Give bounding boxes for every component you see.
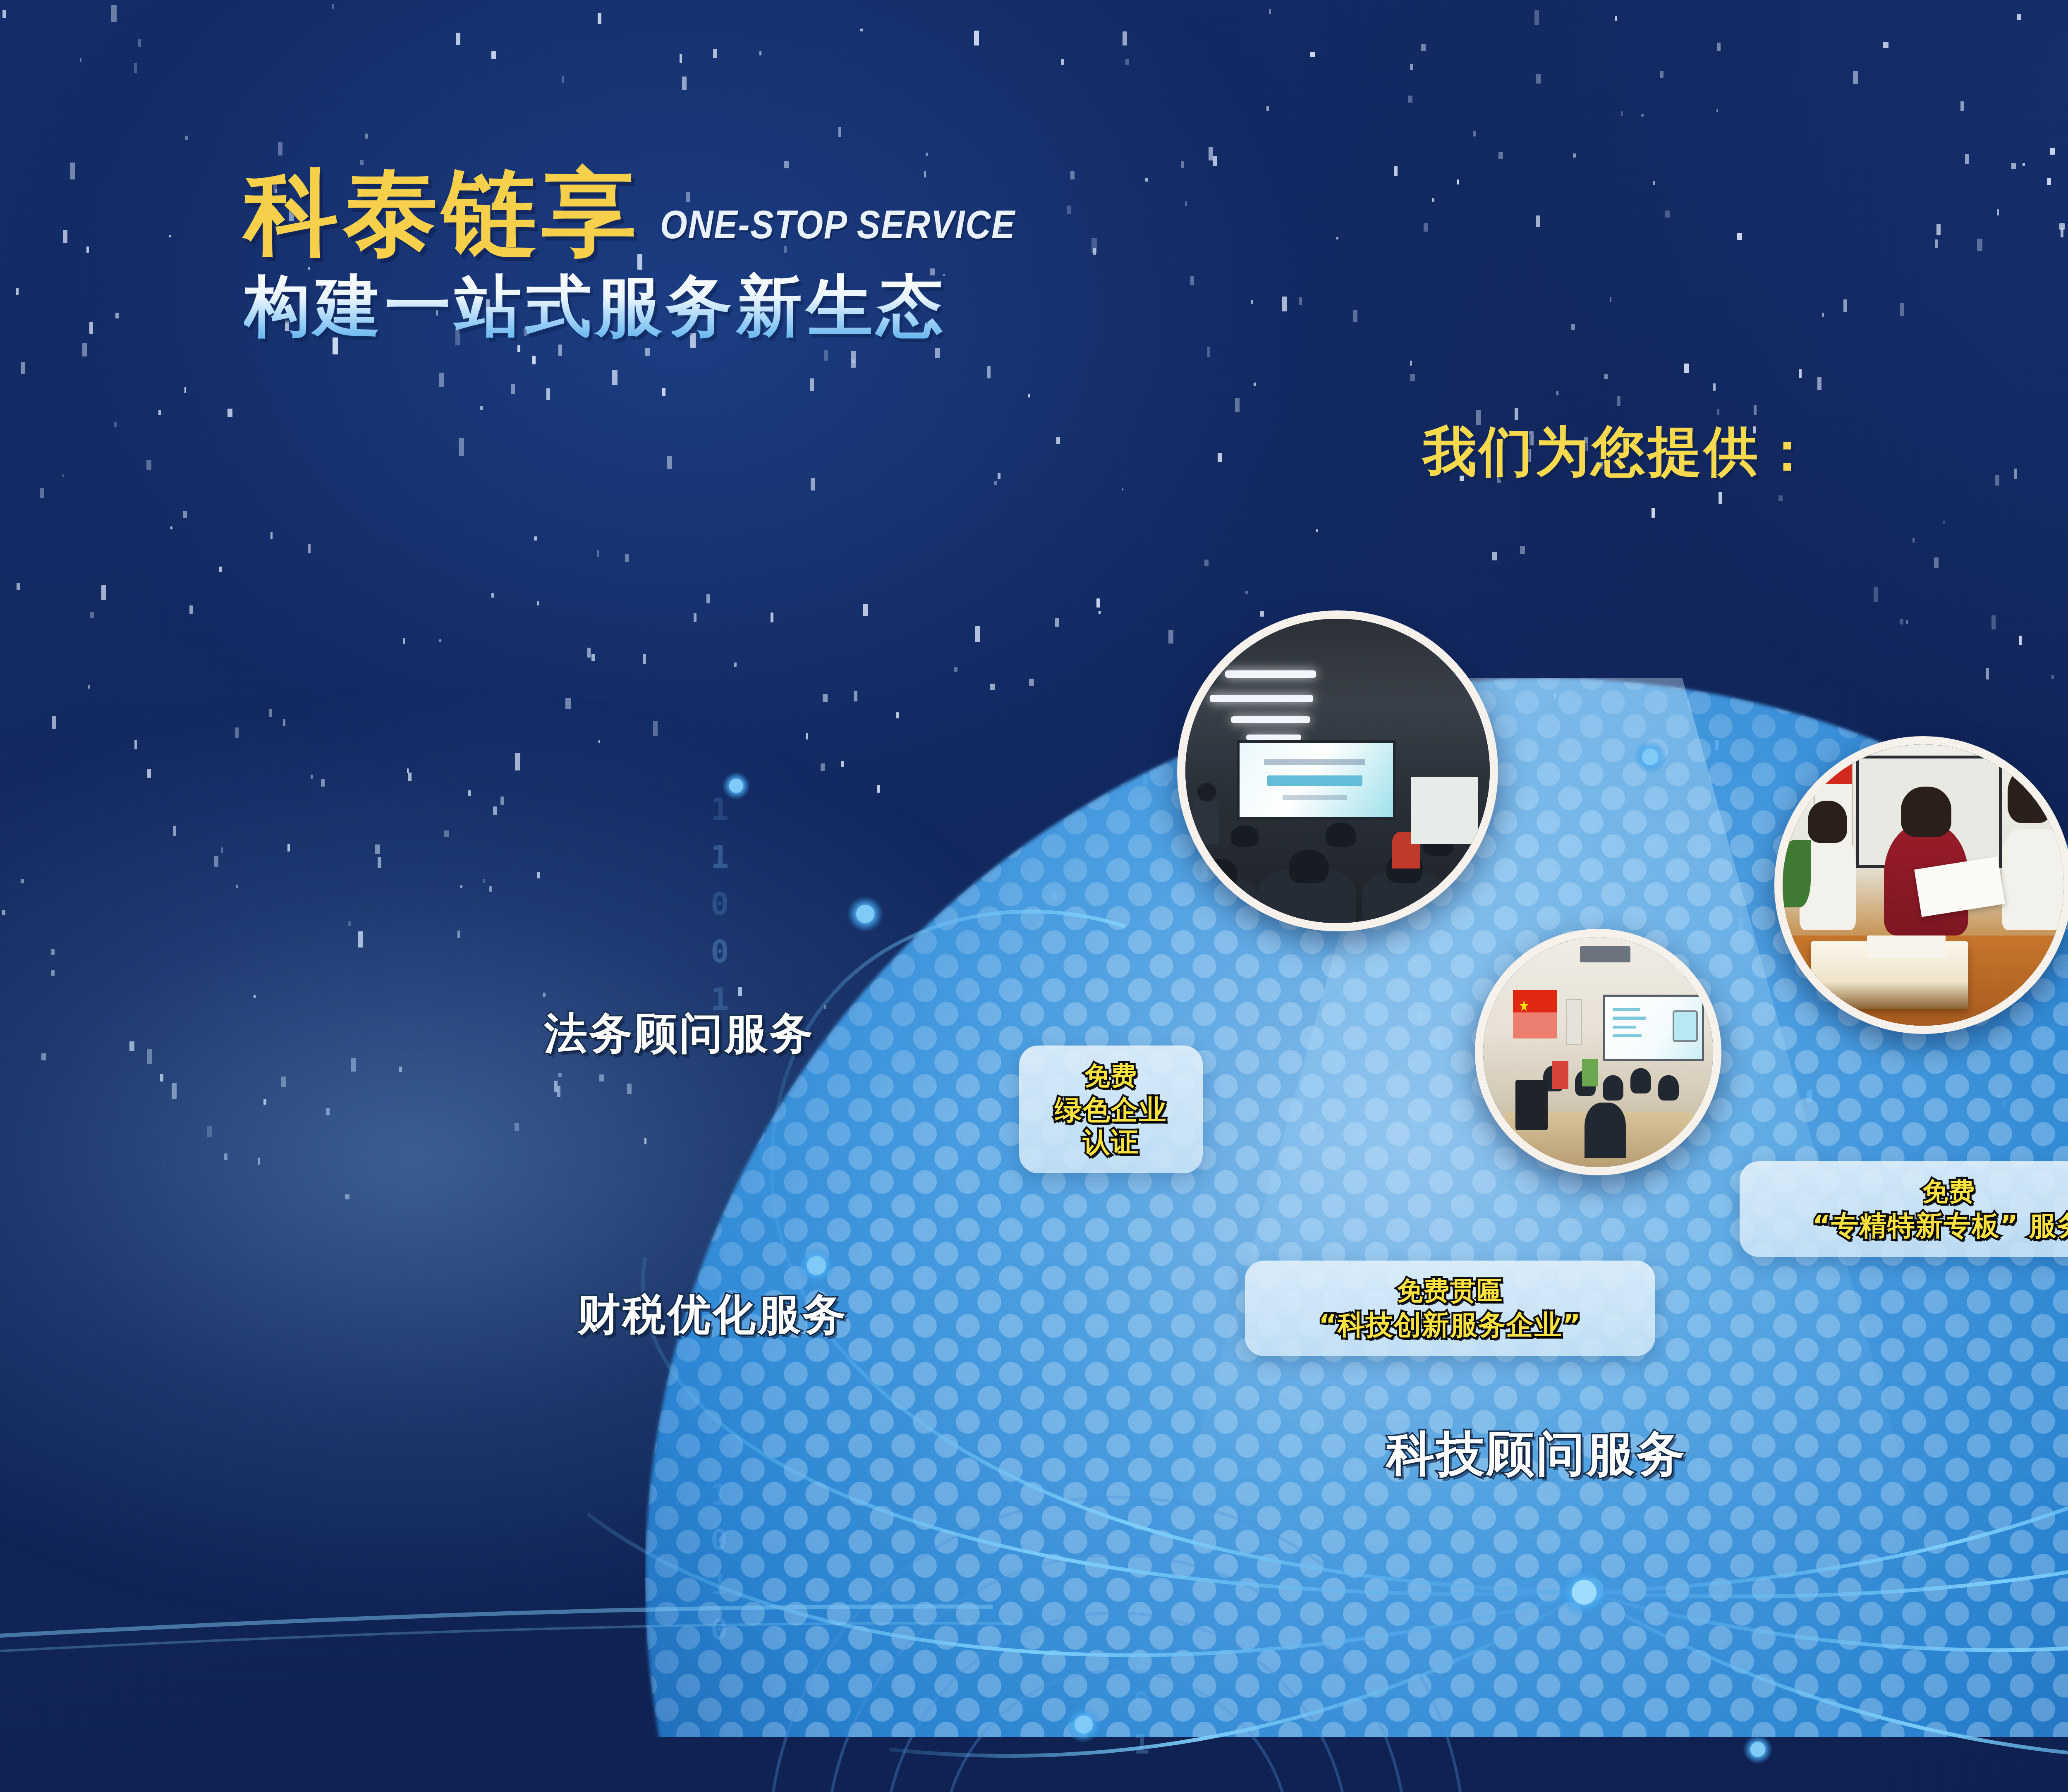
star — [491, 593, 494, 598]
star — [1316, 529, 1318, 532]
star — [1799, 369, 1802, 378]
star — [734, 663, 737, 667]
star — [1168, 630, 1173, 644]
star — [682, 77, 687, 90]
star — [2047, 178, 2051, 185]
star — [1498, 152, 1503, 159]
star — [954, 667, 957, 672]
star — [1900, 303, 1904, 316]
star — [706, 594, 710, 604]
binary-digit: 0 — [711, 928, 729, 976]
star — [111, 5, 116, 22]
star — [1254, 383, 1256, 386]
star — [1604, 374, 1608, 380]
star — [643, 654, 646, 664]
star — [2011, 163, 2016, 169]
star — [63, 230, 67, 243]
star — [17, 583, 20, 590]
star — [1556, 391, 1559, 396]
star — [184, 387, 186, 393]
star — [1266, 106, 1269, 111]
star — [1209, 147, 1213, 160]
star — [935, 348, 940, 358]
star — [987, 366, 991, 378]
binary-digit: 1 — [711, 833, 729, 881]
star — [185, 136, 188, 140]
star — [439, 373, 445, 387]
seminar-hall-photo — [1177, 610, 1498, 931]
star — [1660, 71, 1664, 78]
star — [1843, 299, 1847, 312]
star — [2061, 228, 2063, 237]
binary-digit: 1 — [711, 1472, 728, 1517]
service-label-tax-optimization[interactable]: 财税优化服务 — [577, 1286, 848, 1344]
star — [1218, 453, 1222, 462]
star — [1204, 560, 1209, 567]
star — [1621, 111, 1623, 116]
star — [439, 639, 441, 642]
star — [863, 604, 868, 616]
star — [1421, 44, 1426, 52]
star — [1617, 396, 1621, 405]
star — [1716, 109, 1718, 112]
star — [1900, 619, 1904, 624]
star — [511, 384, 515, 394]
badge-green-enterprise-certification[interactable]: 免费 绿色企业认证 — [1019, 1046, 1203, 1173]
star — [810, 378, 814, 391]
star — [667, 456, 672, 469]
star — [1652, 508, 1655, 517]
offer-heading: 我们为您提供： — [1423, 416, 1817, 488]
banner-canvas: 11001 1010 1100101 10110 0101 科泰链享 ONE-S… — [0, 0, 2068, 1792]
star — [491, 51, 496, 59]
star — [70, 163, 75, 179]
star — [332, 4, 334, 9]
star — [1977, 239, 1982, 251]
star — [189, 605, 193, 614]
badge-line1: 免费 — [1764, 1176, 2068, 1206]
star — [1536, 74, 1541, 84]
star — [1615, 16, 1617, 20]
star — [1965, 154, 1968, 164]
service-label-legal-advisory[interactable]: 法务顾问服务 — [544, 1005, 815, 1063]
star — [517, 345, 520, 352]
star — [1610, 297, 1611, 302]
star — [713, 49, 718, 58]
tagline: 构建一站式服务新生态 — [244, 270, 1485, 342]
star — [308, 544, 311, 553]
star — [1943, 521, 1945, 524]
star — [1492, 552, 1497, 560]
star — [771, 612, 773, 622]
star — [926, 153, 927, 156]
star — [1719, 492, 1722, 504]
star — [694, 613, 697, 622]
star — [1055, 618, 1059, 627]
star — [1912, 538, 1915, 543]
star — [1269, 9, 1271, 14]
star — [1641, 114, 1644, 117]
star — [824, 350, 828, 361]
star — [1995, 475, 1999, 486]
badge-line2: “科技创新服务企业” — [1269, 1309, 1631, 1341]
star — [219, 567, 222, 572]
star — [1754, 405, 1757, 415]
star — [170, 526, 172, 529]
star — [89, 322, 93, 334]
star — [138, 39, 141, 47]
star — [80, 58, 81, 62]
star — [1684, 364, 1689, 373]
brand-subtitle-en: ONE-STOP SERVICE — [660, 202, 1015, 260]
star — [1653, 181, 1654, 185]
star — [974, 31, 979, 45]
star — [759, 51, 761, 55]
star — [183, 511, 187, 518]
star — [114, 422, 116, 427]
star — [1123, 31, 1127, 45]
star — [227, 409, 232, 417]
star — [597, 550, 600, 557]
star — [146, 460, 151, 470]
star — [101, 585, 106, 600]
star — [1571, 324, 1575, 330]
star — [16, 288, 19, 295]
star — [480, 406, 483, 411]
star — [365, 134, 368, 139]
star — [598, 13, 601, 24]
star — [1906, 620, 1908, 624]
star — [2023, 163, 2025, 166]
binary-column-left-lower: 1010 — [711, 1472, 728, 1652]
star — [88, 685, 90, 689]
binary-digit: 0 — [711, 1517, 728, 1562]
star — [625, 554, 629, 562]
star — [1960, 101, 1964, 111]
star — [1665, 211, 1670, 218]
badge-specialized-new-board-service[interactable]: 免费 “专精特新专板” 服务 — [1740, 1161, 2068, 1257]
star — [994, 481, 997, 485]
badge-tech-innovation-service-enterprise[interactable]: 免费贯匾 “科技创新服务企业” — [1245, 1261, 1655, 1356]
star — [534, 536, 537, 541]
star — [1737, 233, 1742, 240]
star — [82, 343, 87, 356]
brand-title: 科泰链享 — [244, 165, 641, 260]
star — [134, 63, 137, 73]
star — [1778, 495, 1783, 501]
star — [1936, 224, 1941, 235]
binary-digit: 1 — [711, 1562, 728, 1607]
star — [1410, 64, 1413, 70]
star — [558, 345, 562, 356]
binary-digit: 0 — [1133, 1681, 1150, 1723]
star — [1520, 546, 1525, 554]
star — [1099, 611, 1100, 614]
star — [1536, 215, 1540, 227]
star — [1125, 59, 1129, 65]
star — [860, 29, 863, 31]
star — [456, 33, 460, 45]
binary-digit: 0 — [711, 1607, 728, 1652]
star — [546, 388, 550, 400]
star — [645, 348, 650, 356]
star — [459, 438, 464, 456]
binary-column-left: 11001 — [711, 786, 729, 1023]
star — [1717, 43, 1721, 51]
star — [403, 638, 405, 644]
star — [1028, 394, 1030, 397]
star — [2017, 14, 2021, 20]
star — [811, 478, 816, 490]
star — [21, 362, 25, 374]
star — [537, 601, 539, 605]
star — [1822, 313, 1824, 317]
badge-line2: “专精特新专板” 服务 — [1764, 1210, 2068, 1242]
title-block: 科泰链享 ONE-STOP SERVICE 构建一站式服务新生态 — [244, 165, 1485, 342]
star — [1056, 437, 1060, 444]
star — [1245, 591, 1248, 594]
star — [86, 246, 89, 253]
star — [591, 654, 595, 661]
star — [852, 359, 855, 363]
binary-digit: 0 — [1133, 1596, 1150, 1639]
star — [1573, 153, 1576, 158]
binary-column-center: 0101 — [1133, 1596, 1150, 1766]
star — [662, 388, 665, 396]
badge-line1: 免费贯匾 — [1269, 1275, 1631, 1306]
star — [851, 351, 856, 368]
star — [278, 142, 283, 156]
star — [532, 356, 536, 364]
star — [1717, 409, 1719, 415]
star — [1410, 361, 1412, 366]
meeting-room-photo — [1475, 929, 1721, 1175]
star — [1408, 96, 1412, 103]
binary-digit: 0 — [711, 880, 729, 928]
star — [2059, 223, 2065, 230]
star — [1096, 598, 1100, 608]
star — [1473, 131, 1476, 137]
star — [975, 626, 980, 642]
star — [115, 313, 119, 318]
star — [680, 54, 682, 63]
star — [1235, 398, 1240, 412]
star — [1310, 52, 1315, 57]
star — [40, 488, 44, 498]
star — [270, 532, 273, 540]
star — [2, 10, 6, 18]
badge-line2: 绿色企业认证 — [1043, 1094, 1179, 1158]
star — [1713, 383, 1716, 391]
star — [1986, 668, 1989, 679]
star — [1883, 42, 1888, 48]
star — [1260, 611, 1264, 617]
star — [1061, 59, 1063, 65]
office-consultation-photo — [1774, 736, 2068, 1034]
badge-line1: 免费 — [1043, 1060, 1179, 1091]
star — [2050, 148, 2055, 155]
star — [1817, 377, 1821, 390]
star — [1874, 587, 1878, 601]
star — [838, 127, 841, 137]
star — [1213, 156, 1217, 166]
star — [562, 76, 564, 83]
star — [1997, 209, 1999, 215]
service-label-tech-advisory[interactable]: 科技顾问服务 — [1386, 1422, 1687, 1486]
star — [1935, 239, 1938, 248]
star — [1207, 347, 1210, 357]
star — [1934, 557, 1939, 568]
star — [998, 473, 1000, 479]
binary-digit: 1 — [1133, 1723, 1150, 1766]
binary-digit: 1 — [711, 786, 729, 833]
star — [1991, 615, 1996, 629]
binary-digit: 1 — [1133, 1639, 1150, 1681]
star — [158, 410, 161, 415]
star — [2014, 469, 2017, 479]
star — [1122, 488, 1123, 490]
star — [1410, 374, 1415, 381]
star — [90, 612, 94, 619]
star — [62, 474, 64, 477]
star — [612, 370, 617, 385]
star — [169, 235, 170, 238]
star — [1853, 71, 1858, 84]
star — [1534, 10, 1539, 25]
star — [587, 648, 591, 658]
